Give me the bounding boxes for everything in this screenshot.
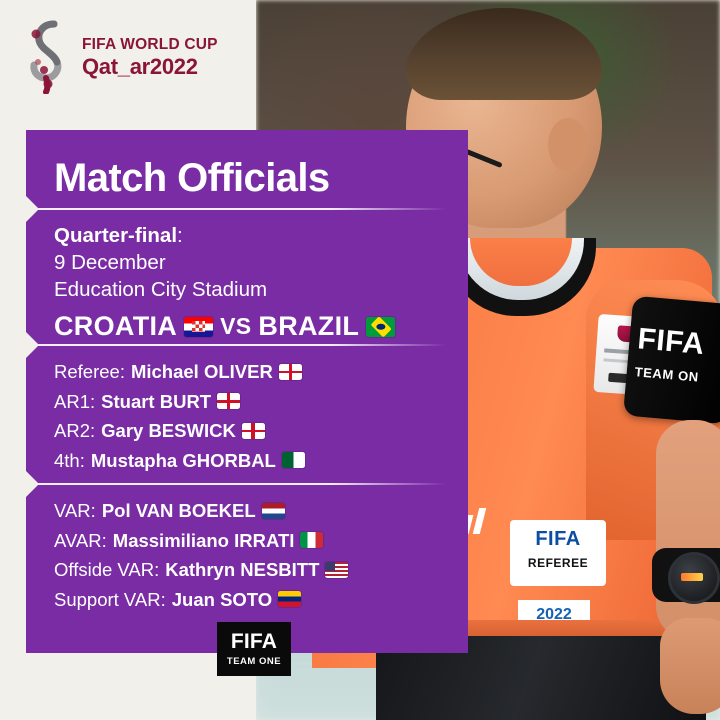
official-row: AR1: Stuart BURT bbox=[54, 387, 305, 417]
official-name: Gary BESWICK bbox=[101, 416, 236, 446]
team-one-badge-fifa: FIFA bbox=[217, 630, 291, 654]
world-cup-logo-line-1: FIFA WORLD CUP bbox=[82, 36, 218, 54]
match-details: Quarter-final: 9 December Education City… bbox=[54, 222, 395, 342]
referee-hand bbox=[660, 618, 720, 714]
smartwatch-face bbox=[668, 552, 720, 604]
var-official-role: AVAR: bbox=[54, 526, 107, 556]
var-official-name: Juan SOTO bbox=[172, 585, 272, 615]
var-official-role: Offside VAR: bbox=[54, 555, 159, 585]
var-official-row: Offside VAR: Kathryn NESBITT bbox=[54, 555, 348, 585]
var-official-name: Kathryn NESBITT bbox=[165, 555, 319, 585]
official-row: Referee: Michael OLIVER bbox=[54, 357, 305, 387]
fifa-team-one-badge: FIFA TEAM ONE bbox=[217, 622, 291, 676]
referee-smartwatch bbox=[652, 548, 720, 602]
netherlands-flag-icon bbox=[262, 503, 285, 519]
var-official-name: Massimiliano IRRATI bbox=[113, 526, 295, 556]
fifa-referee-badge: FIFA REFEREE bbox=[510, 520, 606, 586]
match-venue: Education City Stadium bbox=[54, 276, 395, 303]
official-row: AR2: Gary BESWICK bbox=[54, 416, 305, 446]
fifa-team-one-armband: FIFA TEAM ON bbox=[623, 296, 720, 425]
official-role: Referee: bbox=[54, 357, 125, 387]
divider-officials bbox=[36, 344, 446, 346]
match-teams: CROATIA VS BRAZIL bbox=[54, 311, 395, 342]
venezuela-flag-icon bbox=[278, 591, 301, 607]
italy-flag-icon bbox=[300, 532, 323, 548]
notch-var bbox=[26, 471, 39, 497]
world-cup-logo-line-2: Qat_ar2022 bbox=[82, 54, 198, 80]
england-flag-icon bbox=[217, 393, 240, 409]
home-team-name: CROATIA bbox=[54, 311, 177, 342]
referee-forearm bbox=[656, 420, 720, 640]
referee-badge-role-text: REFEREE bbox=[510, 556, 606, 570]
var-official-role: Support VAR: bbox=[54, 585, 166, 615]
match-date: 9 December bbox=[54, 249, 395, 276]
match-stage: Quarter-final: bbox=[54, 222, 395, 249]
notch-officials bbox=[26, 332, 39, 358]
official-name: Stuart BURT bbox=[101, 387, 211, 417]
var-officials-list: VAR: Pol VAN BOEKEL AVAR: Massimiliano I… bbox=[54, 496, 348, 614]
official-row: 4th: Mustapha GHORBAL bbox=[54, 446, 305, 476]
notch-title bbox=[26, 196, 39, 222]
var-official-row: VAR: Pol VAN BOEKEL bbox=[54, 496, 348, 526]
match-officials-card: Match Officials Quarter-final: 9 Decembe… bbox=[26, 130, 468, 653]
official-name: Mustapha GHORBAL bbox=[91, 446, 276, 476]
referee-ear bbox=[548, 118, 588, 172]
england-flag-icon bbox=[242, 423, 265, 439]
match-stage-colon: : bbox=[177, 224, 183, 247]
brazil-flag-icon bbox=[366, 317, 395, 337]
graphic-canvas: FIFA TEAM ON FIFA REFEREE 2022 bbox=[0, 0, 720, 720]
var-official-role: VAR: bbox=[54, 496, 96, 526]
divider-title bbox=[36, 208, 446, 210]
official-role: AR2: bbox=[54, 416, 95, 446]
usa-flag-icon bbox=[325, 562, 348, 578]
armband-label-team-one: TEAM ON bbox=[634, 364, 699, 385]
croatia-flag-icon bbox=[184, 317, 213, 337]
versus-label: VS bbox=[220, 313, 251, 340]
var-official-row: AVAR: Massimiliano IRRATI bbox=[54, 526, 348, 556]
official-name: Michael OLIVER bbox=[131, 357, 273, 387]
var-official-name: Pol VAN BOEKEL bbox=[102, 496, 256, 526]
official-role: AR1: bbox=[54, 387, 95, 417]
on-field-officials-list: Referee: Michael OLIVER AR1: Stuart BURT… bbox=[54, 357, 305, 475]
world-cup-logo: FIFA WORLD CUP Qat_ar2022 bbox=[24, 18, 204, 94]
var-official-row: Support VAR: Juan SOTO bbox=[54, 585, 348, 615]
match-stage-label: Quarter-final bbox=[54, 224, 177, 247]
algeria-flag-icon bbox=[282, 452, 305, 468]
divider-var bbox=[36, 483, 446, 485]
qatar-2022-emblem-icon bbox=[24, 18, 82, 94]
referee-badge-fifa-text: FIFA bbox=[510, 528, 606, 551]
page-title: Match Officials bbox=[54, 156, 330, 201]
england-flag-icon bbox=[279, 364, 302, 380]
away-team-name: BRAZIL bbox=[258, 311, 359, 342]
referee-hair bbox=[406, 8, 602, 100]
team-one-badge-subtitle: TEAM ONE bbox=[217, 656, 291, 667]
armband-label-fifa: FIFA bbox=[636, 322, 706, 362]
official-role: 4th: bbox=[54, 446, 85, 476]
